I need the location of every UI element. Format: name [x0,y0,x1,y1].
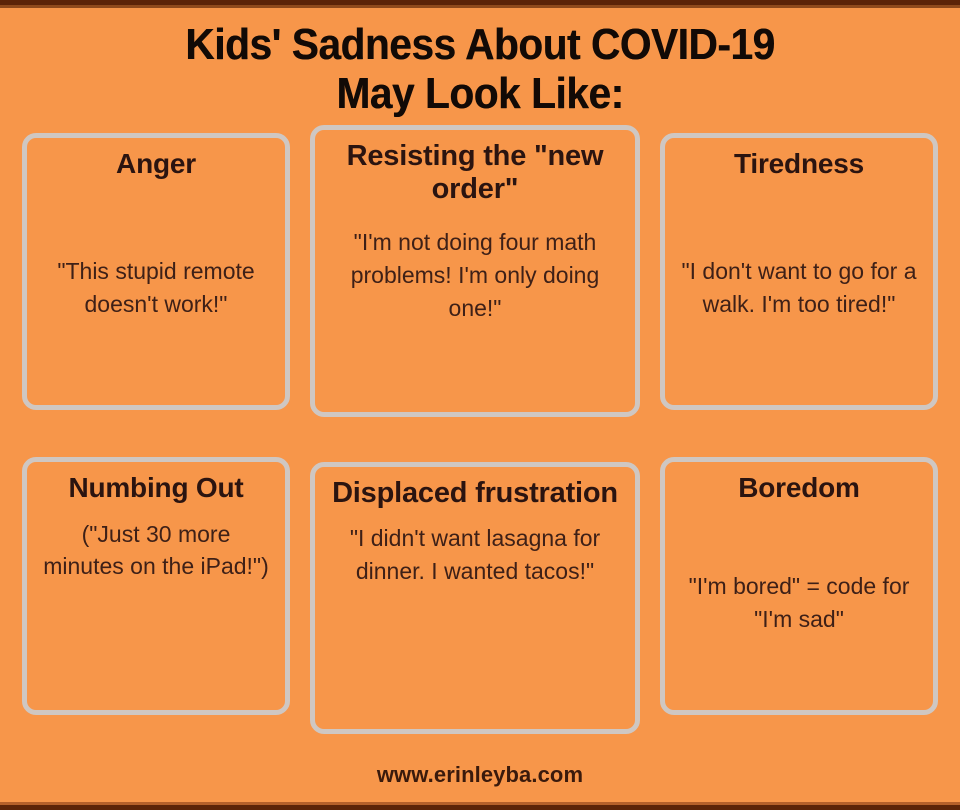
grid-column-right: Tiredness "I don't want to go for a walk… [660,133,938,734]
poster-container: Kids' Sadness About COVID-19 May Look Li… [0,0,960,810]
top-inner-strip [0,5,960,8]
card-displaced-frustration: Displaced frustration "I didn't want las… [310,462,640,734]
bottom-edge-strip [0,805,960,810]
card-grid: Anger "This stupid remote doesn't work!"… [0,133,960,734]
card-quote: "I'm not doing four math problems! I'm o… [327,212,623,397]
page-title-line-2: May Look Like: [38,69,921,118]
card-heading: Anger [39,148,273,180]
page-title: Kids' Sadness About COVID-19 May Look Li… [38,20,921,119]
card-tiredness: Tiredness "I don't want to go for a walk… [660,133,938,410]
grid-column-middle: Resisting the "new order" "I'm not doing… [310,125,640,734]
page-title-line-1: Kids' Sadness About COVID-19 [38,20,921,69]
card-boredom: Boredom "I'm bored" = code for "I'm sad" [660,457,938,715]
card-heading: Resisting the "new order" [327,140,623,207]
card-heading: Tiredness [677,148,921,180]
card-quote: "I don't want to go for a walk. I'm too … [677,186,921,391]
card-quote: ("Just 30 more minutes on the iPad!") [39,510,273,696]
card-quote: "I'm bored" = code for "I'm sad" [677,510,921,696]
card-heading: Displaced frustration [327,477,623,510]
grid-column-left: Anger "This stupid remote doesn't work!"… [22,133,290,734]
card-numbing-out: Numbing Out ("Just 30 more minutes on th… [22,457,290,715]
card-heading: Boredom [677,472,921,504]
card-quote: "This stupid remote doesn't work!" [39,186,273,391]
card-anger: Anger "This stupid remote doesn't work!" [22,133,290,410]
card-quote: "I didn't want lasagna for dinner. I wan… [327,516,623,715]
bottom-inner-strip [0,802,960,805]
footer-website-url[interactable]: www.erinleyba.com [0,762,960,788]
card-resisting-the-new-order: Resisting the "new order" "I'm not doing… [310,125,640,417]
card-heading: Numbing Out [39,472,273,504]
